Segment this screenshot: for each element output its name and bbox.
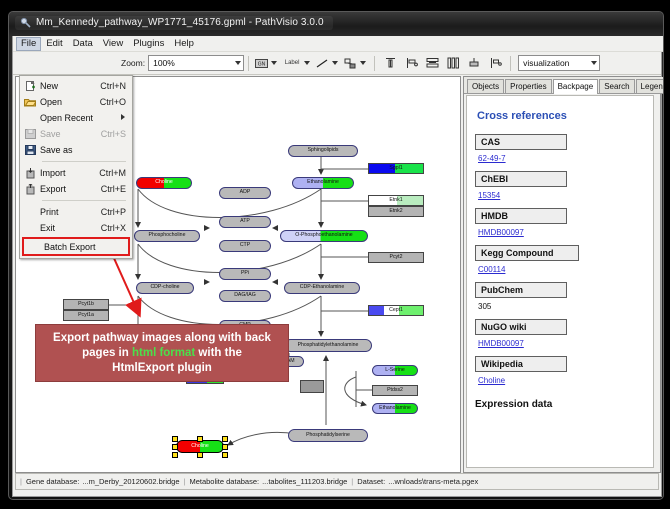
menu-item-print[interactable]: Print Ctrl+P [20, 204, 132, 220]
shape-dropdown-icon[interactable] [360, 61, 366, 65]
menu-bar: File Edit Data View Plugins Help [13, 36, 664, 52]
node-pcyt2[interactable]: Pcyt2 [368, 252, 424, 263]
resize-handle-n[interactable] [197, 436, 203, 442]
toolbar-divider [248, 56, 249, 71]
node-dag-iag[interactable]: DAG/IAG [219, 290, 271, 302]
xref-link-chebi[interactable]: 15354 [478, 191, 500, 200]
node-cept1[interactable]: Cept1 [368, 305, 424, 316]
svg-text:GN: GN [258, 61, 266, 67]
submenu-chevron-icon [120, 113, 132, 123]
backpage-content: Cross references CAS 62-49-7 ChEBI 15354… [466, 95, 654, 468]
node-o-phosphoethanolamine[interactable]: O-Phosphoethanolamine [280, 230, 368, 242]
status-divider-2: | [351, 477, 353, 486]
cross-references-heading: Cross references [477, 110, 645, 122]
node-ctp[interactable]: CTP [219, 240, 271, 252]
menu-item-save-as[interactable]: Save as [20, 142, 132, 158]
shape-tool-icon[interactable] [343, 56, 358, 71]
align-top-icon[interactable] [383, 56, 398, 71]
resize-handle-se[interactable] [222, 452, 228, 458]
node-ethanolamine-bottom[interactable]: Ethanolamine [372, 403, 418, 414]
xref-link-cas[interactable]: 62-49-7 [478, 154, 506, 163]
menu-item-print-accel: Ctrl+P [101, 207, 132, 217]
distribute-icon[interactable] [425, 56, 440, 71]
menu-item-export-label: Export [40, 184, 101, 194]
xref-db-wikipedia: Wikipedia [475, 356, 567, 372]
xref-db-cas: CAS [475, 134, 567, 150]
node-cdp-ethanolamine[interactable]: CDP-Ethanolamine [284, 282, 360, 294]
menu-data[interactable]: Data [68, 37, 98, 51]
node-pcyt1a[interactable]: Pcyt1a [63, 310, 109, 321]
screenshot-root: Mm_Kennedy_pathway_WP1771_45176.gpml - P… [0, 0, 670, 509]
tab-properties[interactable]: Properties [505, 79, 551, 93]
xref-value-chebi[interactable]: 15354 [478, 191, 645, 200]
xref-db-chebi: ChEBI [475, 171, 567, 187]
same-width-icon[interactable] [446, 56, 461, 71]
resize-handle-sw[interactable] [172, 452, 178, 458]
client-area: File Edit Data View Plugins Help Zoom: 1… [12, 36, 662, 497]
menu-item-open-recent[interactable]: Open Recent [20, 110, 132, 126]
node-phosphocholine[interactable]: Phosphocholine [134, 230, 200, 242]
label-dropdown-icon[interactable] [304, 61, 310, 65]
toolbar-divider-3 [510, 56, 511, 71]
group-icon[interactable] [488, 56, 503, 71]
node-atp[interactable]: ATP [219, 216, 271, 228]
resize-handle-nw[interactable] [172, 436, 178, 442]
menu-file[interactable]: File [16, 37, 41, 51]
pathvisio-window: Mm_Kennedy_pathway_WP1771_45176.gpml - P… [8, 11, 664, 500]
open-recent-icon-placeholder [20, 110, 40, 126]
annotation-callout: Export pathway images along with back pa… [35, 324, 289, 382]
zoom-label: Zoom: [121, 58, 145, 68]
toolbar-divider-2 [374, 56, 375, 71]
xref-link-kegg[interactable]: C00114 [478, 265, 505, 274]
menu-help[interactable]: Help [169, 37, 199, 51]
visualization-combobox[interactable]: visualization [518, 55, 600, 71]
menu-item-batch-export[interactable]: Batch Export [22, 237, 130, 256]
callout-line-3: HtmlExport plugin [112, 361, 212, 376]
node-pemt-box[interactable] [300, 380, 324, 393]
menu-item-new[interactable]: New Ctrl+N [20, 78, 132, 94]
menu-edit[interactable]: Edit [41, 37, 67, 51]
side-panel: Objects Properties Backpage Search Legen… [463, 76, 661, 473]
status-metabolite-db-value: ...tabolites_111203.bridge [262, 477, 347, 486]
print-icon-placeholder [20, 204, 40, 220]
status-metabolite-db-label: Metabolite database: [189, 477, 259, 486]
menu-item-new-accel: Ctrl+N [100, 81, 132, 91]
tab-backpage[interactable]: Backpage [553, 79, 599, 94]
tab-legend[interactable]: Legend [636, 79, 664, 93]
node-adp[interactable]: ADP [219, 187, 271, 199]
node-ppi[interactable]: PPi [219, 268, 271, 280]
exit-icon-placeholder [20, 220, 40, 236]
status-gene-db-label: Gene database: [26, 477, 79, 486]
title-bar-content: Mm_Kennedy_pathway_WP1771_45176.gpml - P… [15, 16, 333, 30]
node-ptdss2[interactable]: Ptdss2 [372, 385, 418, 396]
menu-item-open-accel: Ctrl+O [100, 97, 132, 107]
datanode-dropdown-icon[interactable] [271, 61, 277, 65]
menu-item-batch-export-label: Batch Export [44, 242, 128, 252]
pathvisio-app-icon [20, 17, 31, 28]
menu-item-exit[interactable]: Exit Ctrl+X [20, 220, 132, 236]
callout-highlight: html format [132, 347, 195, 359]
callout-line-2a: pages in [82, 347, 132, 359]
menu-item-open-label: Open [40, 97, 100, 107]
resize-handle-e[interactable] [222, 444, 228, 450]
side-panel-tabs: Objects Properties Backpage Search Legen… [464, 77, 663, 94]
xref-value-wikipedia[interactable]: Choline [478, 376, 645, 385]
chevron-down-icon [591, 61, 597, 65]
expression-data-heading: Expression data [475, 399, 645, 410]
menu-item-import-accel: Ctrl+M [99, 168, 132, 178]
resize-handle-w[interactable] [172, 444, 178, 450]
line-tool-icon[interactable] [315, 56, 330, 71]
xref-link-nugo[interactable]: HMDB00097 [478, 339, 524, 348]
title-bar: Mm_Kennedy_pathway_WP1771_45176.gpml - P… [9, 12, 663, 36]
menu-item-exit-accel: Ctrl+X [101, 223, 132, 233]
node-phosphatidylethanolamine[interactable]: Phosphatidylethanolamine [284, 339, 372, 352]
callout-line-2: pages in html format with the [82, 346, 242, 361]
window-title: Mm_Kennedy_pathway_WP1771_45176.gpml - P… [36, 17, 324, 28]
menu-item-print-label: Print [40, 207, 101, 217]
node-pcyt1b[interactable]: Pcyt1b [63, 299, 109, 310]
callout-line-2c: with the [195, 347, 242, 359]
menu-item-import[interactable]: Import Ctrl+M [20, 165, 132, 181]
status-dataset-label: Dataset: [357, 477, 385, 486]
file-menu-popup[interactable]: New Ctrl+N Open Ctrl+O Open Recent Save [19, 75, 133, 259]
menu-item-open-recent-label: Open Recent [40, 113, 120, 123]
line-dropdown-icon[interactable] [332, 61, 338, 65]
menu-item-save-label: Save [40, 129, 101, 139]
menu-item-export-accel: Ctrl+E [101, 184, 132, 194]
xref-value-hmdb[interactable]: HMDB00097 [478, 228, 645, 237]
xref-db-nugo: NuGO wiki [475, 319, 567, 335]
resize-handle-ne[interactable] [222, 436, 228, 442]
menu-separator-2 [42, 200, 126, 201]
node-cdp-choline[interactable]: CDP-choline [136, 282, 194, 294]
zoom-combobox[interactable]: 100% [148, 55, 244, 71]
xref-db-hmdb: HMDB [475, 208, 567, 224]
tab-search[interactable]: Search [599, 79, 634, 93]
resize-handle-s[interactable] [197, 452, 203, 458]
align-left-icon[interactable] [404, 56, 419, 71]
status-dataset-value: ...wnloads\trans-meta.pgex [388, 477, 478, 486]
label-tool-icon[interactable]: Label [282, 56, 302, 71]
selected-node-wrapper[interactable]: Choline [176, 440, 224, 453]
tab-objects[interactable]: Objects [467, 79, 504, 93]
xref-db-pubchem: PubChem [475, 282, 567, 298]
tool-bar: Zoom: 100% GN Label [13, 52, 661, 75]
import-icon [20, 165, 40, 181]
menu-item-save: Save Ctrl+S [20, 126, 132, 142]
chevron-down-icon [235, 61, 241, 65]
status-divider-0: | [20, 477, 22, 486]
menu-item-import-label: Import [40, 168, 99, 178]
export-icon [20, 181, 40, 197]
zoom-value: 100% [153, 58, 175, 68]
save-icon [20, 126, 40, 142]
status-bar: | Gene database: ...m_Derby_20120602.bri… [15, 473, 659, 490]
node-sphingolipids[interactable]: Sphingolipids [288, 145, 358, 157]
status-divider-1: | [184, 477, 186, 486]
visualization-value: visualization [523, 58, 569, 68]
menu-plugins[interactable]: Plugins [128, 37, 169, 51]
menu-item-export[interactable]: Export Ctrl+E [20, 181, 132, 197]
menu-item-save-as-label: Save as [40, 145, 126, 155]
stack-icon[interactable] [467, 56, 482, 71]
node-ethanolamine-top[interactable]: Ethanolamine [292, 177, 354, 189]
save-as-icon [20, 142, 40, 158]
xref-value-cas[interactable]: 62-49-7 [478, 154, 645, 163]
new-file-icon [20, 78, 40, 94]
menu-item-save-accel: Ctrl+S [101, 129, 132, 139]
menu-item-new-label: New [40, 81, 100, 91]
datanode-tool-icon[interactable]: GN [254, 56, 269, 71]
xref-value-kegg[interactable]: C00114 [478, 265, 645, 274]
node-l-serine[interactable]: L-Serine [372, 365, 418, 376]
menu-view[interactable]: View [98, 37, 128, 51]
batch-export-icon-placeholder [24, 239, 44, 255]
node-etnk2[interactable]: Etnk2 [368, 206, 424, 217]
node-choline-top[interactable]: Choline [136, 177, 192, 189]
menu-item-open[interactable]: Open Ctrl+O [20, 94, 132, 110]
folder-open-icon [20, 94, 40, 110]
xref-link-wikipedia[interactable]: Choline [478, 376, 505, 385]
menu-separator-1 [42, 161, 126, 162]
node-sgpl1[interactable]: Sgpl1 [368, 163, 424, 174]
xref-value-nugo[interactable]: HMDB00097 [478, 339, 645, 348]
xref-value-pubchem: 305 [478, 302, 645, 311]
xref-db-kegg: Kegg Compound [475, 245, 579, 261]
callout-line-1: Export pathway images along with back [53, 331, 271, 346]
xref-link-hmdb[interactable]: HMDB00097 [478, 228, 524, 237]
status-gene-db-value: ...m_Derby_20120602.bridge [82, 477, 179, 486]
menu-item-exit-label: Exit [40, 223, 101, 233]
node-phosphatidylserine[interactable]: Phosphatidylserine [288, 429, 368, 442]
node-etnk1[interactable]: Etnk1 [368, 195, 424, 206]
